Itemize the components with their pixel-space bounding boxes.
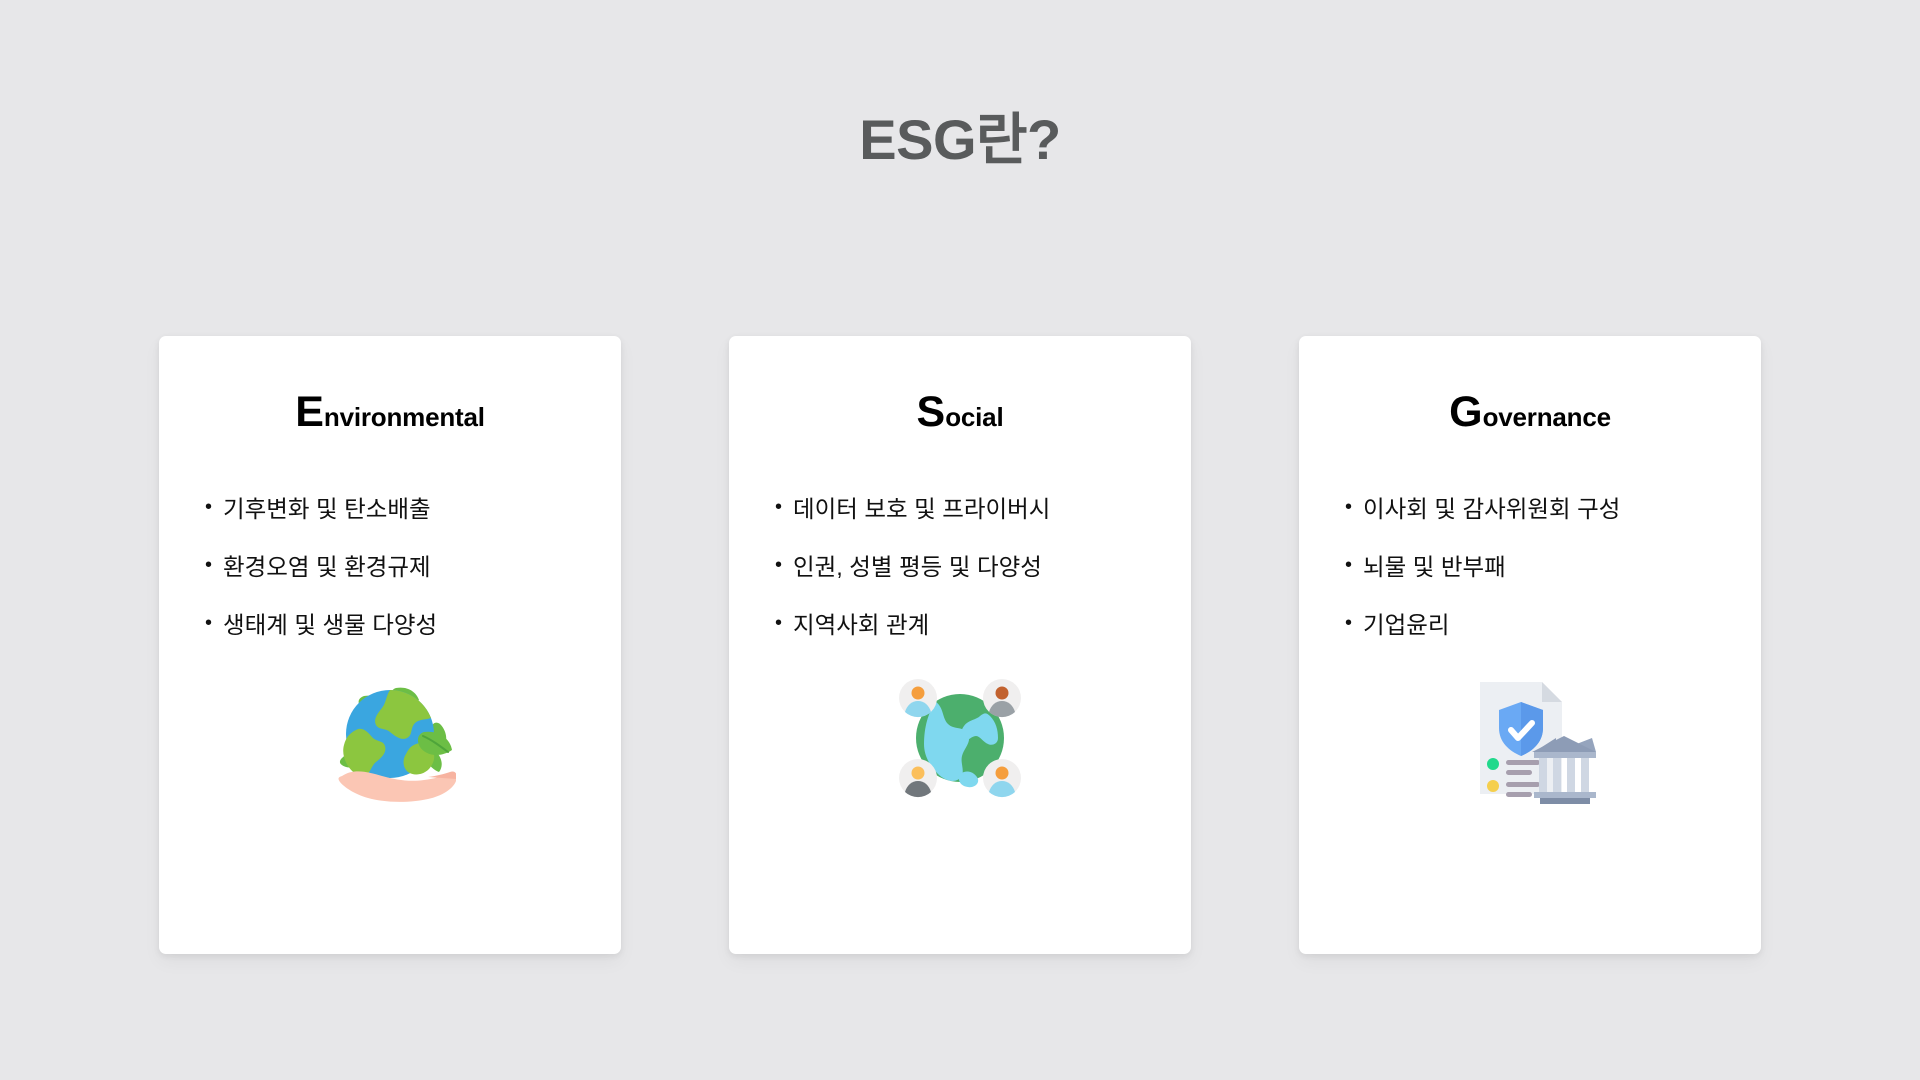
list-item-label: 이사회 및 감사위원회 구성 [1363,494,1741,524]
list-item-label: 환경오염 및 환경규제 [223,552,601,582]
page-title: ESG란? [0,108,1920,172]
card-heading-rest: ocial [945,402,1003,432]
card-governance: Governance • 이사회 및 감사위원회 구성 • 뇌물 및 반부패 •… [1299,336,1761,954]
list-item: • 지역사회 관계 [775,610,1171,640]
bullet-list-governance: • 이사회 및 감사위원회 구성 • 뇌물 및 반부패 • 기업윤리 [1345,494,1741,668]
card-heading-initial: S [917,388,946,436]
list-item: • 뇌물 및 반부패 [1345,552,1741,582]
card-heading-initial: E [295,388,324,436]
card-heading-governance: Governance [1299,391,1761,434]
document-shield-bank-icon [1299,672,1761,804]
bullet-icon: • [1345,552,1363,579]
bullet-icon: • [205,610,223,637]
list-item-label: 기후변화 및 탄소배출 [223,494,601,524]
list-item: • 기업윤리 [1345,610,1741,640]
list-item: • 기후변화 및 탄소배출 [205,494,601,524]
esg-card-row: Environmental • 기후변화 및 탄소배출 • 환경오염 및 환경규… [159,336,1761,954]
list-item-label: 뇌물 및 반부패 [1363,552,1741,582]
bullet-list-social: • 데이터 보호 및 프라이버시 • 인권, 성별 평등 및 다양성 • 지역사… [775,494,1171,668]
list-item-label: 인권, 성별 평등 및 다양성 [793,552,1171,582]
list-item: • 인권, 성별 평등 및 다양성 [775,552,1171,582]
list-item: • 환경오염 및 환경규제 [205,552,601,582]
bullet-icon: • [775,610,793,637]
card-heading-rest: nvironmental [324,402,485,432]
bullet-icon: • [205,494,223,521]
bullet-icon: • [1345,494,1363,521]
list-item: • 이사회 및 감사위원회 구성 [1345,494,1741,524]
card-heading-initial: G [1449,388,1482,436]
bullet-icon: • [775,494,793,521]
card-environmental: Environmental • 기후변화 및 탄소배출 • 환경오염 및 환경규… [159,336,621,954]
bullet-list-environmental: • 기후변화 및 탄소배출 • 환경오염 및 환경규제 • 생태계 및 생물 다… [205,494,601,668]
card-heading-rest: overnance [1483,402,1611,432]
list-item: • 생태계 및 생물 다양성 [205,610,601,640]
card-social: Social • 데이터 보호 및 프라이버시 • 인권, 성별 평등 및 다양… [729,336,1191,954]
card-heading-environmental: Environmental [159,391,621,434]
list-item: • 데이터 보호 및 프라이버시 [775,494,1171,524]
bullet-icon: • [775,552,793,579]
list-item-label: 기업윤리 [1363,610,1741,640]
list-item-label: 데이터 보호 및 프라이버시 [793,494,1171,524]
earth-in-hand-icon [159,672,621,804]
list-item-label: 생태계 및 생물 다양성 [223,610,601,640]
bullet-icon: • [1345,610,1363,637]
card-heading-social: Social [729,391,1191,434]
bullet-icon: • [205,552,223,579]
list-item-label: 지역사회 관계 [793,610,1171,640]
globe-with-people-icon [729,672,1191,804]
